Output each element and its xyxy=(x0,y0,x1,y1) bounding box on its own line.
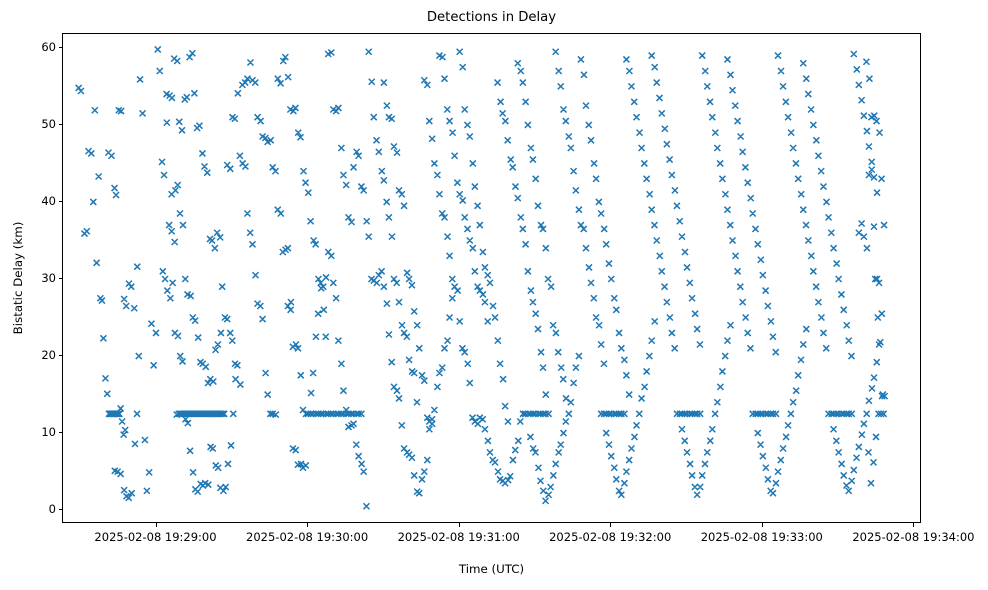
x-tick-label: 2025-02-08 19:30:00 xyxy=(246,530,368,544)
y-tick-mark xyxy=(59,355,63,356)
x-tick-label: 2025-02-08 19:29:00 xyxy=(94,530,216,544)
x-tick-mark xyxy=(307,523,308,527)
y-tick-label: 40 xyxy=(41,194,56,208)
y-tick-label: 60 xyxy=(41,40,56,54)
x-axis-label: Time (UTC) xyxy=(62,562,921,576)
scatter-series xyxy=(63,34,921,523)
scatter-markers xyxy=(76,46,888,509)
y-tick-label: 10 xyxy=(41,425,56,439)
x-tick-label: 2025-02-08 19:33:00 xyxy=(701,530,823,544)
chart-title: Detections in Delay xyxy=(62,10,921,26)
x-tick-mark xyxy=(610,523,611,527)
x-tick-mark xyxy=(459,523,460,527)
y-tick-mark xyxy=(59,47,63,48)
y-tick-mark xyxy=(59,432,63,433)
x-tick-label: 2025-02-08 19:32:00 xyxy=(549,530,671,544)
x-tick-mark xyxy=(913,523,914,527)
y-tick-label: 30 xyxy=(41,271,56,285)
x-tick-mark xyxy=(762,523,763,527)
plot-area xyxy=(62,33,921,523)
y-tick-label: 50 xyxy=(41,117,56,131)
x-tick-label: 2025-02-08 19:31:00 xyxy=(398,530,520,544)
x-tick-mark xyxy=(156,523,157,527)
x-tick-label: 2025-02-08 19:34:00 xyxy=(852,530,974,544)
y-tick-label: 0 xyxy=(49,502,56,516)
y-tick-label: 20 xyxy=(41,348,56,362)
matplotlib-figure: Detections in Delay 2025-02-08 19:29:002… xyxy=(0,0,988,590)
y-tick-mark xyxy=(59,509,63,510)
y-tick-mark xyxy=(59,278,63,279)
y-tick-mark xyxy=(59,124,63,125)
y-tick-mark xyxy=(59,201,63,202)
y-axis-label: Bistatic Delay (km) xyxy=(9,33,27,523)
